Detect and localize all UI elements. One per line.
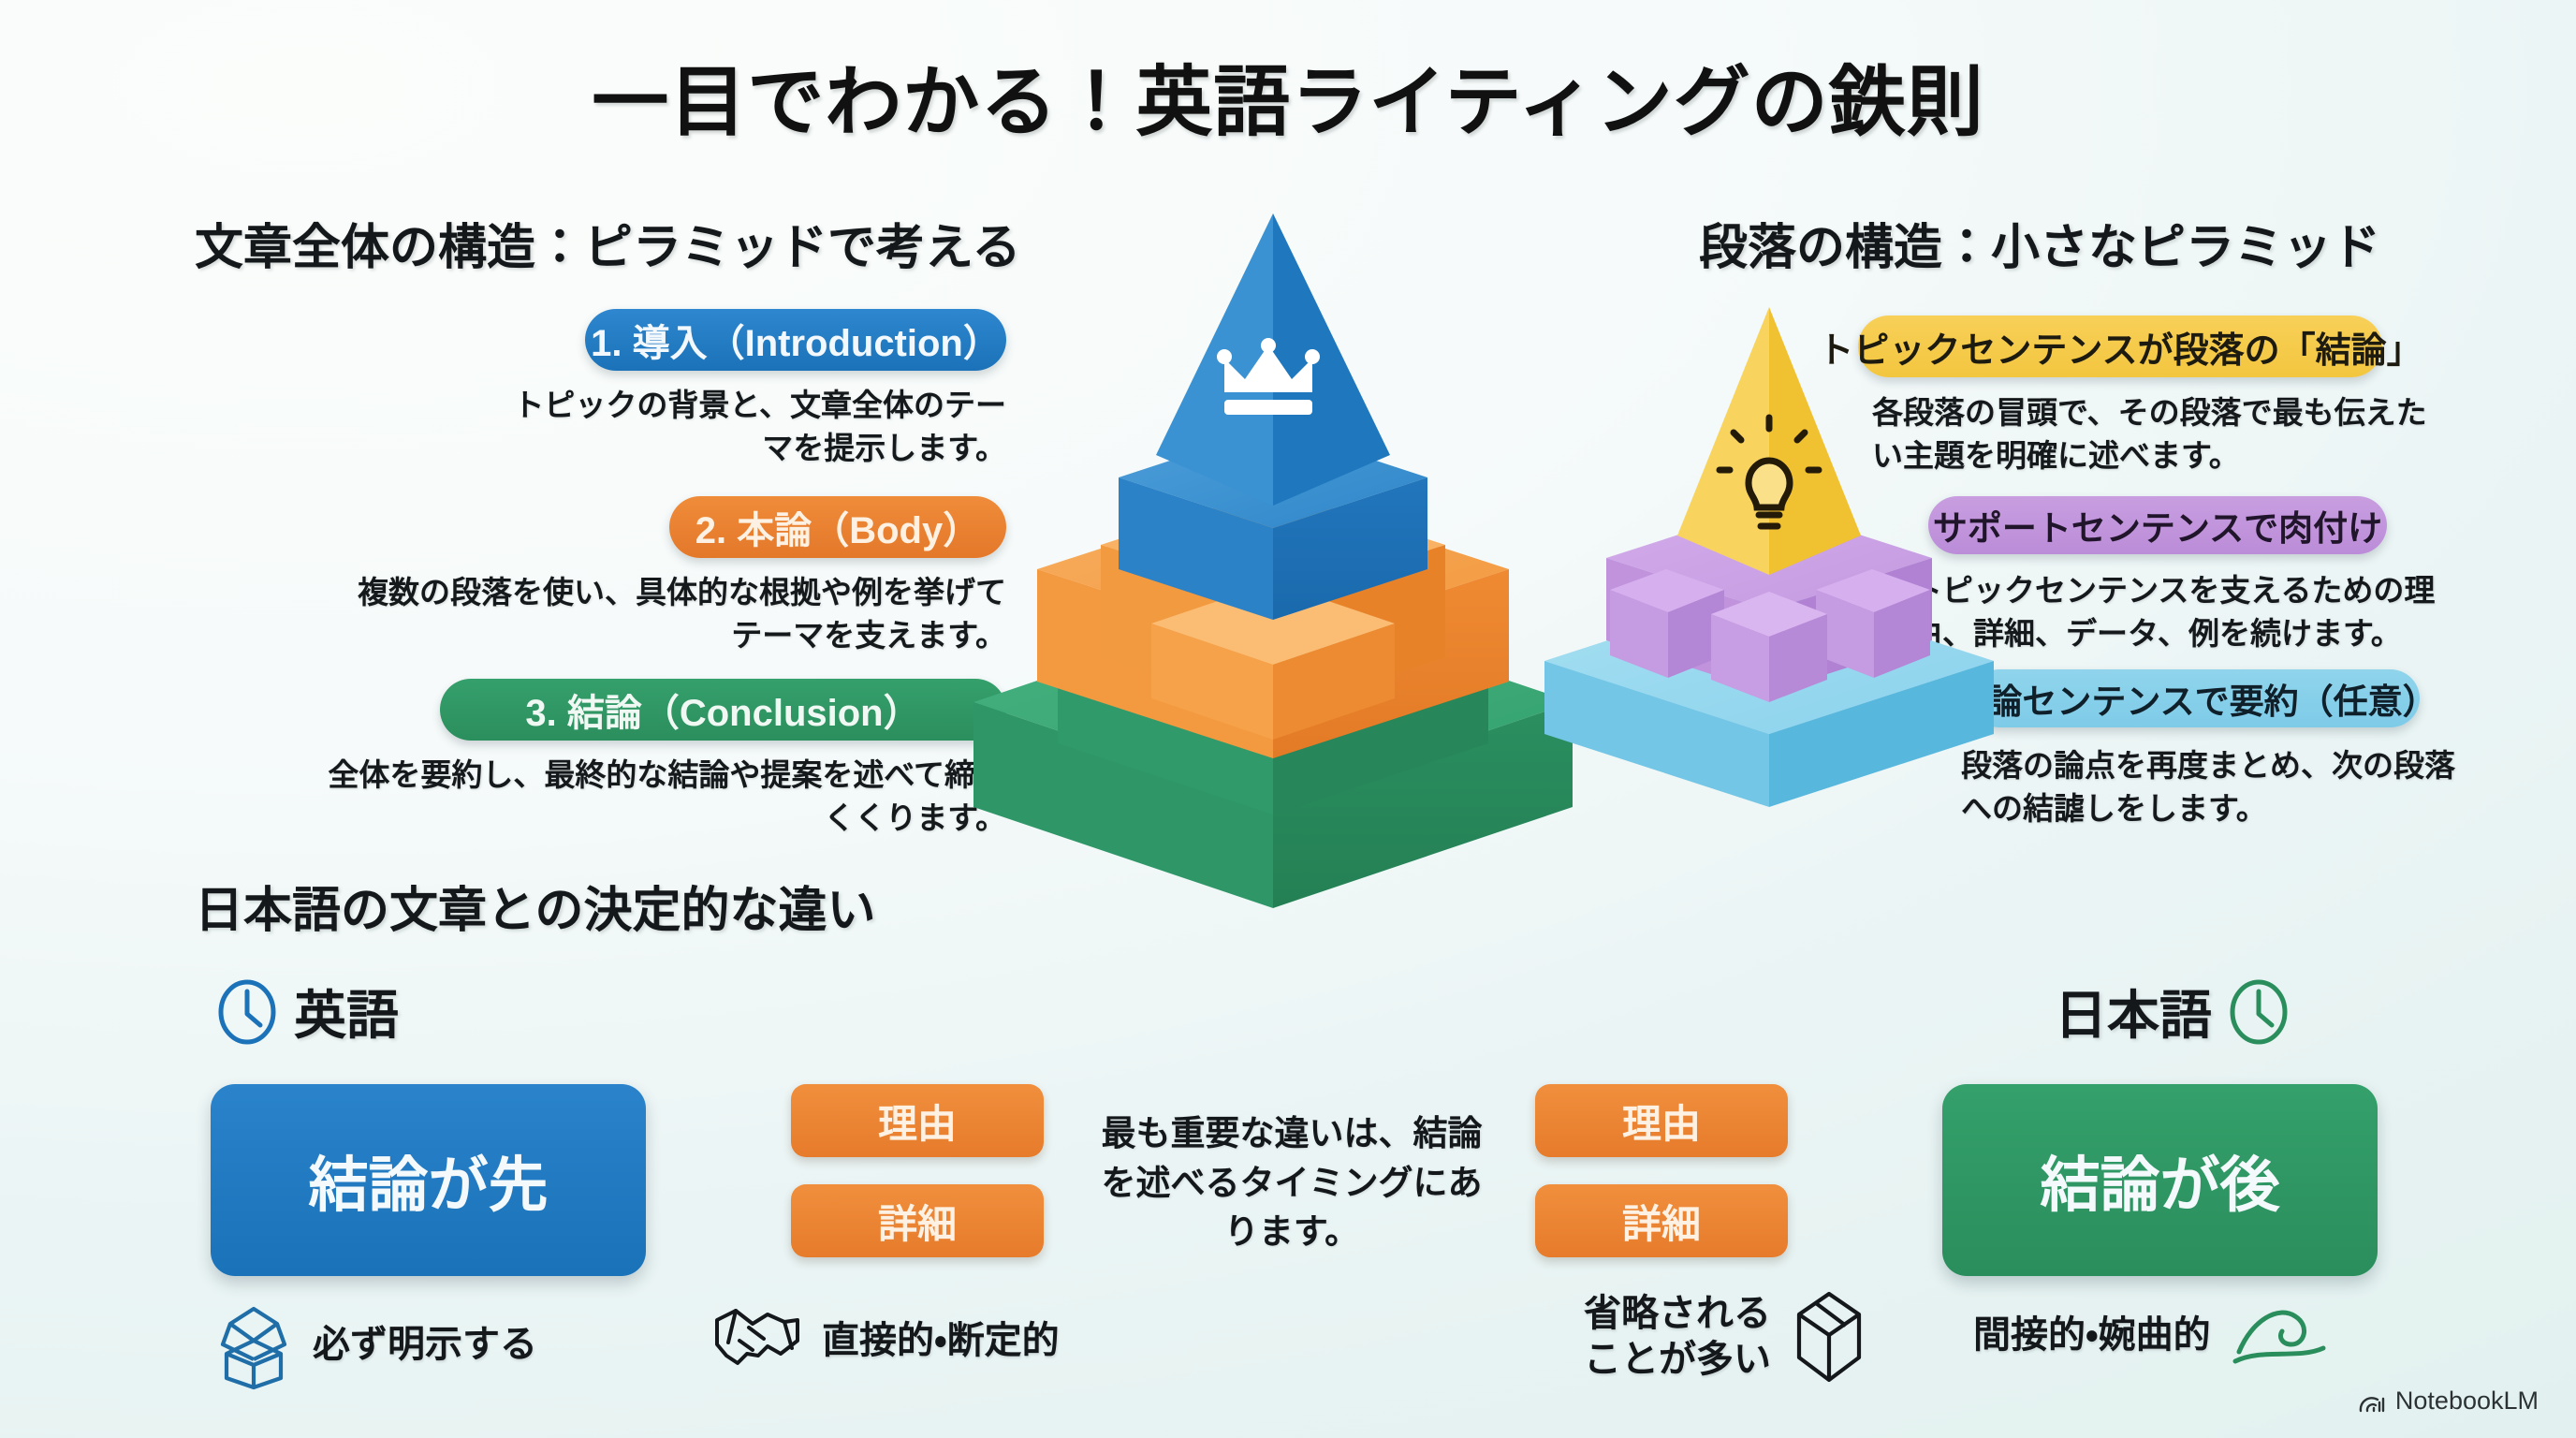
footnote-indirect: 間接的・婉曲的 xyxy=(1973,1299,2331,1371)
japanese-support-reason[interactable]: 理由 xyxy=(1535,1084,1788,1157)
pyramid-block-center xyxy=(1711,592,1827,702)
language-label-english: 英語 xyxy=(217,974,399,1049)
clock-icon-english xyxy=(217,978,277,1046)
footnote-explicit: 必ず明示する xyxy=(213,1299,537,1389)
closed-box-icon xyxy=(1790,1288,1868,1386)
description-conclusion: 全体を要約し、最終的な結論や提案を述べて締めくくります。 xyxy=(309,754,1006,839)
handshake-icon xyxy=(711,1299,803,1382)
watermark: NotebookLM xyxy=(2358,1387,2539,1416)
footnote-omitted: 省略される ことが多い xyxy=(1584,1288,1868,1386)
footnote-omitted-caption: 省略される ことが多い xyxy=(1584,1291,1771,1383)
conclusion-first-box[interactable]: 結論が先 xyxy=(211,1084,646,1276)
footnote-direct-caption: 直接的・断定的 xyxy=(822,1318,1060,1364)
page-title: 一目でわかる！英語ライティングの鉄則 xyxy=(0,39,2576,151)
open-box-icon xyxy=(213,1299,294,1389)
japanese-support-detail[interactable]: 詳細 xyxy=(1535,1184,1788,1257)
badge-concluding-sentence[interactable]: 結論センテンスで要約（任意） xyxy=(1970,669,2420,727)
english-support-detail[interactable]: 詳細 xyxy=(791,1184,1044,1257)
notebooklm-logo-icon xyxy=(2358,1389,2386,1414)
language-label-japanese: 日本語 xyxy=(2055,974,2289,1049)
section-heading-essay-structure: 文章全体の構造：ピラミッドで考える xyxy=(195,208,1020,278)
pyramid-block-right xyxy=(1816,569,1930,678)
center-note: 最も重要な違いは、結論を述べるタイミングにあります。 xyxy=(1086,1109,1498,1257)
pyramid-block-left xyxy=(1610,569,1724,678)
wave-icon xyxy=(2230,1299,2331,1371)
pyramid-apex-topic-sentence xyxy=(1677,307,1861,575)
footnote-indirect-caption: 間接的・婉曲的 xyxy=(1973,1313,2211,1358)
infographic-canvas: 一目でわかる！英語ライティングの鉄則 文章全体の構造：ピラミッドで考える 1. … xyxy=(0,0,2576,1438)
footnote-explicit-caption: 必ず明示する xyxy=(313,1322,537,1368)
english-support-reason[interactable]: 理由 xyxy=(791,1084,1044,1157)
clock-icon-japanese xyxy=(2229,978,2289,1046)
language-label-english-text: 英語 xyxy=(294,974,399,1049)
section-heading-differences: 日本語の文章との決定的な違い xyxy=(195,871,875,941)
language-label-japanese-text: 日本語 xyxy=(2055,974,2212,1049)
section-heading-paragraph-structure: 段落の構造：小さなピラミッド xyxy=(1699,208,2380,278)
watermark-label: NotebookLM xyxy=(2395,1387,2539,1416)
description-concluding-sentence: 段落の論点を再度まとめ、次の段落への結謔しをします。 xyxy=(1961,744,2485,829)
description-body: 複数の段落を使い、具体的な根拠や例を挙げてテーマを支えます。 xyxy=(346,571,1006,656)
paragraph-pyramid-graphic xyxy=(1516,290,2022,814)
footnote-direct: 直接的・断定的 xyxy=(711,1299,1060,1382)
conclusion-last-box[interactable]: 結論が後 xyxy=(1942,1084,2378,1276)
